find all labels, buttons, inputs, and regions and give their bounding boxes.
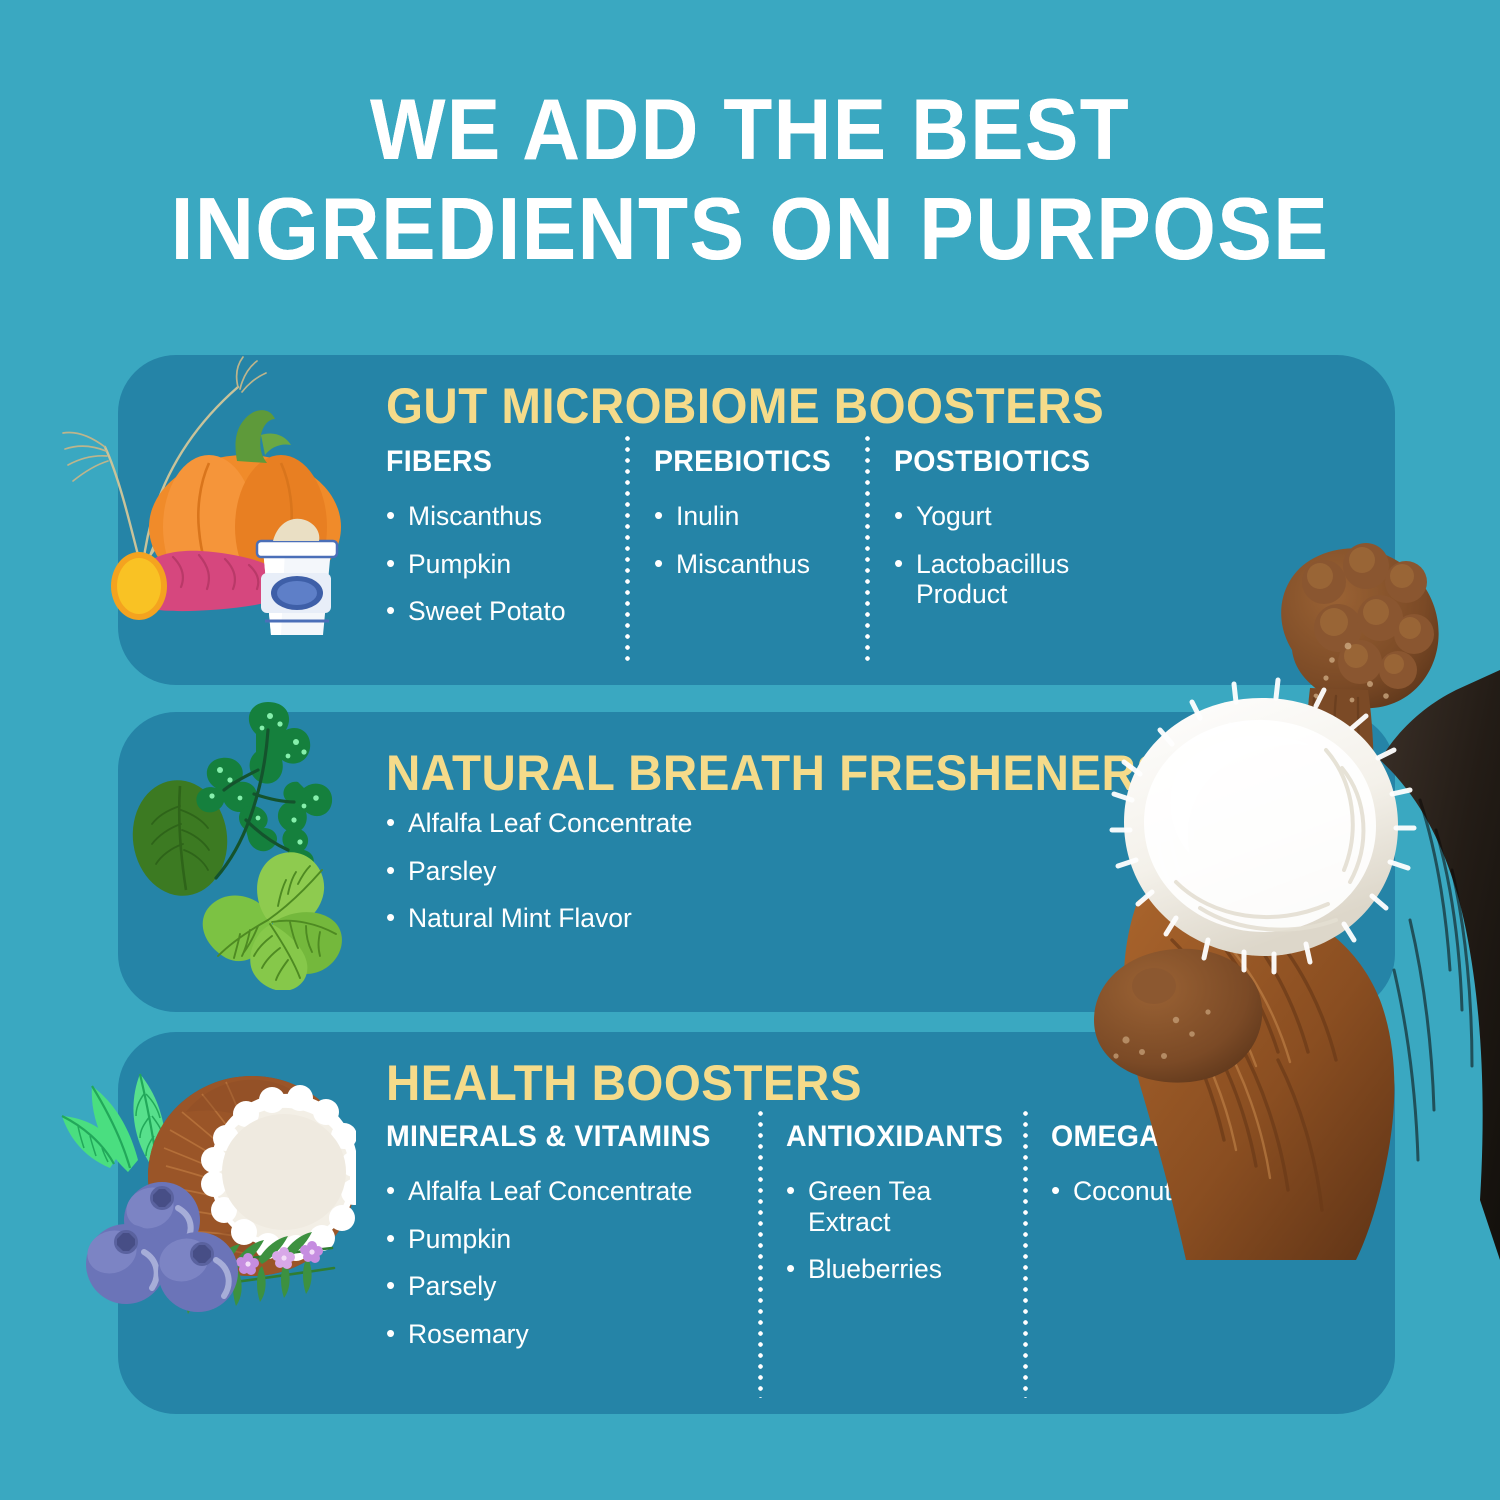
column-antioxidants-list: Green Tea Extract Blueberries (786, 1176, 1016, 1285)
list-item: Parsely (386, 1271, 746, 1302)
column-divider-1 (625, 433, 630, 661)
page-title-line-1: WE ADD THE BEST (370, 88, 1130, 172)
list-item: Green Tea Extract (786, 1176, 946, 1237)
list-item: Miscanthus (654, 549, 864, 580)
column-minerals-vitamins: MINERALS & VITAMINS Alfalfa Leaf Concent… (386, 1120, 746, 1367)
list-item: Blueberries (786, 1254, 1016, 1285)
column-fibers-heading: FIBERS (386, 445, 590, 479)
list-item: Pumpkin (386, 1224, 746, 1255)
column-antioxidants-heading: ANTIOXIDANTS (786, 1120, 1005, 1154)
coconut-blueberries-greentea-rosemary-icon (26, 1068, 356, 1368)
column-prebiotics-heading: PREBIOTICS (654, 445, 854, 479)
column-divider-3 (758, 1108, 763, 1398)
column-divider-4 (1023, 1108, 1028, 1398)
column-fibers: FIBERS Miscanthus Pumpkin Sweet Potato (386, 445, 601, 644)
card-3-title: HEALTH BOOSTERS (386, 1054, 862, 1112)
list-item: Alfalfa Leaf Concentrate (386, 1176, 746, 1207)
list-item: Miscanthus (386, 501, 601, 532)
card-2-title: NATURAL BREATH FRESHENERS (386, 744, 1168, 802)
dog-paw-holding-dental-chew-icon (1080, 500, 1500, 1260)
mint-parsley-alfalfa-leaves-icon (108, 690, 408, 990)
list-item: Pumpkin (386, 549, 601, 580)
page-title: WE ADD THE BEST INGREDIENTS ON PURPOSE (53, 88, 1448, 273)
column-divider-2 (865, 433, 870, 661)
list-item: Sweet Potato (386, 596, 601, 627)
card-1-title: GUT MICROBIOME BOOSTERS (386, 377, 1104, 435)
column-fibers-list: Miscanthus Pumpkin Sweet Potato (386, 501, 601, 627)
list-item: Rosemary (386, 1319, 746, 1350)
pumpkin-sweet-potato-yogurt-miscanthus-icon (23, 315, 383, 655)
list-item: Inulin (654, 501, 864, 532)
column-antioxidants: ANTIOXIDANTS Green Tea Extract Blueberri… (786, 1120, 1016, 1302)
column-prebiotics-list: Inulin Miscanthus (654, 501, 864, 579)
column-prebiotics: PREBIOTICS Inulin Miscanthus (654, 445, 864, 596)
column-minerals-vitamins-list: Alfalfa Leaf Concentrate Pumpkin Parsely… (386, 1176, 746, 1350)
column-postbiotics-heading: POSTBIOTICS (894, 445, 1141, 479)
column-minerals-vitamins-heading: MINERALS & VITAMINS (386, 1120, 728, 1154)
page-title-line-2: INGREDIENTS ON PURPOSE (171, 186, 1329, 272)
